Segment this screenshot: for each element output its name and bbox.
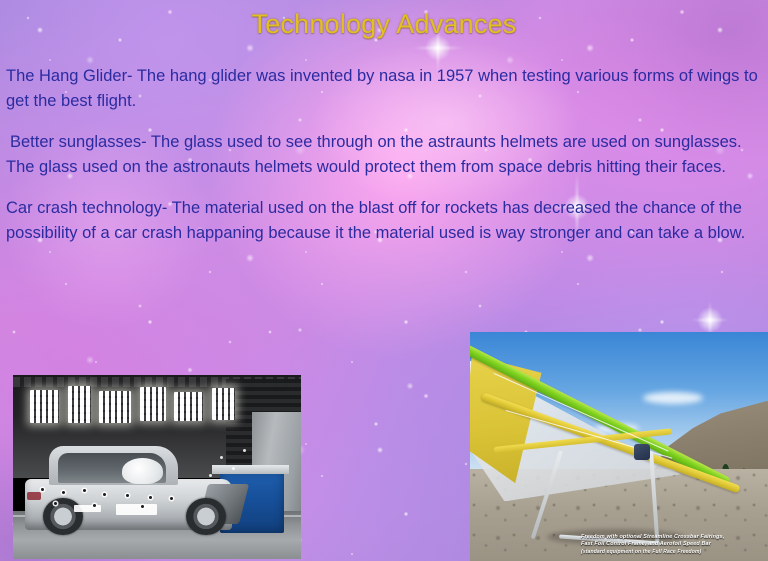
ancap-decal <box>116 504 157 515</box>
front-wheel <box>186 498 225 535</box>
slide-body: The Hang Glider- The hang glider was inv… <box>6 64 758 262</box>
paragraph-sunglasses: Better sunglasses- The glass used to see… <box>6 130 758 180</box>
rear-wheel <box>43 498 82 535</box>
control-frame-hub <box>634 444 650 460</box>
tail-light <box>27 492 42 500</box>
paragraph-hang-glider: The Hang Glider- The hang glider was inv… <box>6 64 758 114</box>
caption-line-3: (standard equipment on the Full Race Fre… <box>581 549 763 556</box>
cloud <box>643 392 703 404</box>
caption-line-2: Fast Foil Control Frame, and Aerofoil Sp… <box>581 541 763 548</box>
glider-caption: Freedom with optional Streamline Crossba… <box>581 534 763 556</box>
slide-canvas: Technology Advances The Hang Glider- The… <box>0 0 768 561</box>
hang-glider-photo: Freedom with optional Streamline Crossba… <box>470 332 768 561</box>
car-crash-test-photo <box>13 375 301 559</box>
deployed-airbag <box>122 458 163 485</box>
door-decal <box>74 505 101 511</box>
crash-test-car <box>25 449 232 530</box>
slide-title: Technology Advances <box>0 8 768 40</box>
paragraph-car-crash: Car crash technology- The material used … <box>6 196 758 246</box>
